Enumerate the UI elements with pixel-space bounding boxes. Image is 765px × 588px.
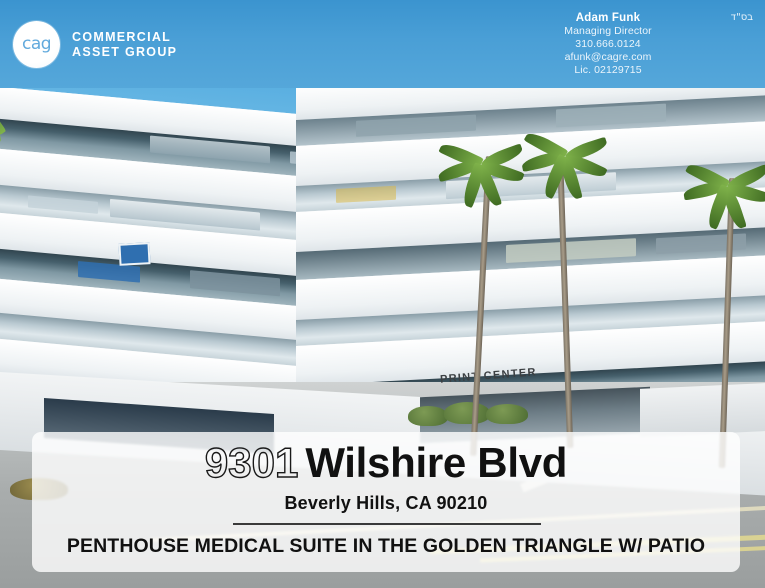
brand-name: COMMERCIAL ASSET GROUP (72, 30, 177, 59)
address-banner: 9301Wilshire Blvd Beverly Hills, CA 9021… (32, 432, 740, 572)
brand-header: cag COMMERCIAL ASSET GROUP Adam Funk Man… (0, 0, 765, 88)
property-tagline: PENTHOUSE MEDICAL SUITE IN THE GOLDEN TR… (32, 533, 740, 559)
shrub (486, 404, 528, 424)
hebrew-blessing: בס"ד (731, 13, 753, 23)
city-state-zip: Beverly Hills, CA 90210 (32, 492, 740, 514)
agent-title: Managing Director (523, 25, 693, 38)
agent-phone[interactable]: 310.666.0124 (523, 38, 693, 51)
logo-monogram-text: cag (22, 36, 51, 53)
divider-rule (233, 523, 541, 525)
reflected-sign (118, 242, 150, 266)
brand-line-1: COMMERCIAL (72, 30, 177, 45)
street-name: Wilshire Blvd (305, 439, 567, 486)
agent-name: Adam Funk (523, 11, 693, 25)
address-headline: 9301Wilshire Blvd (32, 440, 740, 486)
agent-contact-block: Adam Funk Managing Director 310.666.0124… (523, 11, 693, 77)
agent-email[interactable]: afunk@cagre.com (523, 51, 693, 64)
storefront-wall (640, 383, 765, 437)
shrub (408, 406, 448, 426)
brand-line-2: ASSET GROUP (72, 45, 177, 60)
cag-monogram-icon: cag (13, 21, 60, 68)
shrub (444, 402, 490, 424)
street-number: 9301 (205, 439, 298, 486)
agent-license: Lic. 02129715 (523, 64, 693, 77)
company-logo[interactable]: cag COMMERCIAL ASSET GROUP (13, 21, 177, 68)
property-flyer: PRINT CENTER (0, 0, 765, 588)
